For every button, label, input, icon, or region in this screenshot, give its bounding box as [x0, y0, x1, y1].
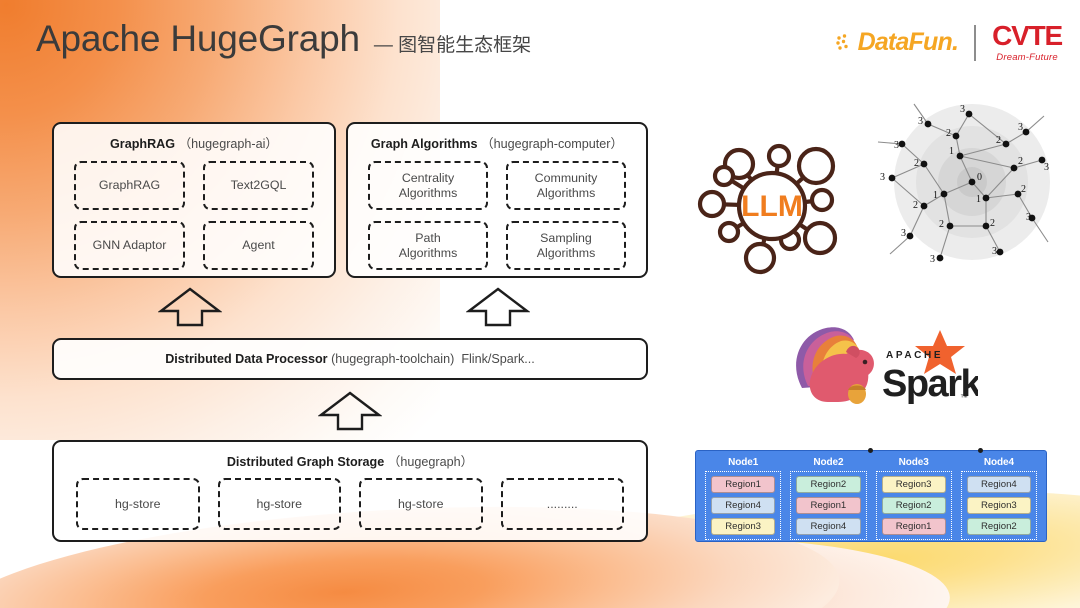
datafun-wordmark: DataFun.	[858, 28, 959, 57]
storage-cell-2-label: hg-store	[257, 497, 302, 511]
hop-label-1-a: 1	[949, 146, 954, 157]
hop-label-3-e: 3	[894, 140, 899, 151]
spark-apache-text: APACHE	[886, 350, 943, 361]
path-line1: Path	[399, 231, 458, 246]
apache-spark-logo: APACHE Spark ™	[782, 322, 978, 416]
hop-label-1-b: 1	[933, 190, 938, 201]
distributed-data-processor-bar: Distributed Data Processor (hugegraph-to…	[52, 338, 648, 380]
module-path-algorithms[interactable]: Path Algorithms	[368, 221, 488, 270]
logo-group: DataFun. CVTE Dream-Future	[835, 22, 1062, 63]
title-subtitle: — 图智能生态框架	[374, 30, 531, 57]
node-4-label: Node4	[961, 457, 1037, 468]
processor-extra-text: Flink/Spark...	[461, 352, 534, 366]
node-4-region-1[interactable]: Region4	[967, 476, 1031, 493]
arrow-storage-to-processor	[318, 390, 382, 432]
storage-title-text: Distributed Graph Storage	[227, 455, 384, 469]
node-1-regions: Region1 Region4 Region3	[705, 471, 781, 540]
hop-label-2-f: 2	[939, 219, 944, 230]
graph-algorithms-panel: Graph Algorithms （hugegraph-computer） Ce…	[346, 122, 648, 278]
sampling-line2: Algorithms	[537, 246, 596, 261]
node-4-region-2[interactable]: Region3	[967, 497, 1031, 514]
module-text2gql-label: Text2GQL	[231, 178, 287, 193]
node-column-3: Node3 Region3 Region2 Region1	[876, 457, 952, 533]
hop-label-3-j: 3	[1026, 212, 1031, 223]
hop-label-3-a: 3	[960, 104, 965, 115]
distributed-graph-storage-panel: Distributed Graph Storage （hugegraph） hg…	[52, 440, 648, 542]
arrow-processor-to-graphrag	[158, 286, 222, 328]
module-sampling-algorithms[interactable]: Sampling Algorithms	[506, 221, 626, 270]
module-community-algorithms[interactable]: Community Algorithms	[506, 161, 626, 210]
arrow-processor-to-algorithms	[466, 286, 530, 328]
hop-label-2-d: 2	[914, 158, 919, 169]
graphrag-panel-title: GraphRAG （hugegraph-ai）	[54, 133, 334, 152]
node-3-region-3[interactable]: Region1	[882, 518, 946, 535]
storage-cell-2[interactable]: hg-store	[218, 478, 342, 530]
node-1-region-3[interactable]: Region3	[711, 518, 775, 535]
hop-label-3-c: 3	[1018, 122, 1023, 133]
table-handle-left[interactable]	[868, 448, 873, 453]
hop-label-2-c: 2	[1018, 156, 1023, 167]
graphrag-module-grid: GraphRAG Text2GQL GNN Adaptor Agent	[54, 152, 334, 270]
datafun-dots-icon	[835, 31, 855, 55]
module-text2gql[interactable]: Text2GQL	[203, 161, 314, 210]
community-line2: Algorithms	[535, 186, 598, 201]
llm-network-icon: LLM	[694, 128, 854, 283]
hop-label-3-b: 3	[918, 116, 923, 127]
cvte-wordmark: CVTE	[992, 22, 1062, 50]
node-column-4: Node4 Region4 Region3 Region2	[961, 457, 1037, 533]
hop-label-3-f: 3	[880, 172, 885, 183]
hop-label-3-d: 3	[1044, 162, 1049, 173]
node-4-region-3[interactable]: Region2	[967, 518, 1031, 535]
node-2-label: Node2	[790, 457, 866, 468]
module-gnn-adaptor[interactable]: GNN Adaptor	[74, 221, 185, 270]
cvte-tagline: Dream-Future	[996, 52, 1058, 63]
algorithms-module-text: （hugegraph-computer）	[481, 137, 623, 151]
storage-module-text: （hugegraph）	[388, 455, 473, 469]
hop-label-1-c: 1	[976, 194, 981, 205]
logo-divider	[974, 25, 976, 61]
node-2-region-1[interactable]: Region2	[796, 476, 860, 493]
storage-cell-3[interactable]: hg-store	[359, 478, 483, 530]
node-3-region-1[interactable]: Region3	[882, 476, 946, 493]
module-centrality-algorithms[interactable]: Centrality Algorithms	[368, 161, 488, 210]
centrality-line2: Algorithms	[399, 186, 458, 201]
hop-label-2-g: 2	[990, 218, 995, 229]
node-3-region-2[interactable]: Region2	[882, 497, 946, 514]
node-1-region-1[interactable]: Region1	[711, 476, 775, 493]
processor-title-text: Distributed Data Processor	[165, 352, 327, 366]
hop-label-2-h: 2	[1021, 184, 1026, 195]
hop-label-3-g: 3	[901, 228, 906, 239]
storage-cell-3-label: hg-store	[398, 497, 443, 511]
table-handle-right[interactable]	[978, 448, 983, 453]
storage-cell-1[interactable]: hg-store	[76, 478, 200, 530]
hop-distance-graph: 0 1 1 1 2 2 2 2 2 2 2 2 3 3 3 3 3 3 3 3 …	[866, 86, 1072, 284]
storage-cell-more-label: .........	[547, 497, 578, 511]
node-region-table: Node1 Region1 Region4 Region3 Node2 Regi…	[695, 450, 1047, 542]
datafun-logo: DataFun.	[835, 28, 959, 57]
spark-trademark: ™	[960, 393, 968, 402]
path-line2: Algorithms	[399, 246, 458, 261]
hop-label-3-h: 3	[930, 254, 935, 265]
algorithms-panel-title: Graph Algorithms （hugegraph-computer）	[348, 133, 646, 152]
storage-panel-title: Distributed Graph Storage （hugegraph）	[54, 451, 646, 470]
centrality-line1: Centrality	[399, 171, 458, 186]
hop-label-3-i: 3	[992, 246, 997, 257]
node-column-1: Node1 Region1 Region4 Region3	[705, 457, 781, 533]
hop-label-2-b: 2	[996, 135, 1001, 146]
page-title: Apache HugeGraph — 图智能生态框架	[36, 18, 531, 60]
sampling-line1: Sampling	[537, 231, 596, 246]
node-1-label: Node1	[705, 457, 781, 468]
community-line1: Community	[535, 171, 598, 186]
graphrag-module-text: （hugegraph-ai）	[179, 137, 278, 151]
node-2-regions: Region2 Region1 Region4	[790, 471, 866, 540]
storage-cell-row: hg-store hg-store hg-store .........	[54, 470, 646, 530]
processor-module-text: (hugegraph-toolchain)	[331, 352, 454, 366]
llm-center-label: LLM	[741, 190, 803, 223]
graphrag-panel: GraphRAG （hugegraph-ai） GraphRAG Text2GQ…	[52, 122, 336, 278]
processor-bar-text: Distributed Data Processor (hugegraph-to…	[165, 352, 535, 366]
node-2-region-2[interactable]: Region1	[796, 497, 860, 514]
node-4-regions: Region4 Region3 Region2	[961, 471, 1037, 540]
node-column-2: Node2 Region2 Region1 Region4	[790, 457, 866, 533]
storage-cell-more[interactable]: .........	[501, 478, 625, 530]
graphrag-title-text: GraphRAG	[110, 137, 175, 151]
module-gnn-adaptor-label: GNN Adaptor	[93, 238, 167, 253]
module-graphrag[interactable]: GraphRAG	[74, 161, 185, 210]
node-1-region-2[interactable]: Region4	[711, 497, 775, 514]
storage-cell-1-label: hg-store	[115, 497, 160, 511]
algorithms-title-text: Graph Algorithms	[371, 137, 478, 151]
module-agent-label: Agent	[242, 238, 274, 253]
hop-label-2-e: 2	[913, 200, 918, 211]
module-graphrag-label: GraphRAG	[99, 178, 160, 193]
title-main: Apache HugeGraph	[36, 18, 360, 60]
node-3-regions: Region3 Region2 Region1	[876, 471, 952, 540]
algorithms-module-grid: Centrality Algorithms Community Algorith…	[348, 152, 646, 270]
cvte-logo: CVTE Dream-Future	[992, 22, 1062, 63]
node-3-label: Node3	[876, 457, 952, 468]
hop-label-2-a: 2	[946, 128, 951, 139]
slide-canvas: Apache HugeGraph — 图智能生态框架 DataFun. CVTE…	[0, 0, 1080, 608]
hop-label-0: 0	[977, 172, 982, 183]
module-agent[interactable]: Agent	[203, 221, 314, 270]
node-2-region-3[interactable]: Region4	[796, 518, 860, 535]
